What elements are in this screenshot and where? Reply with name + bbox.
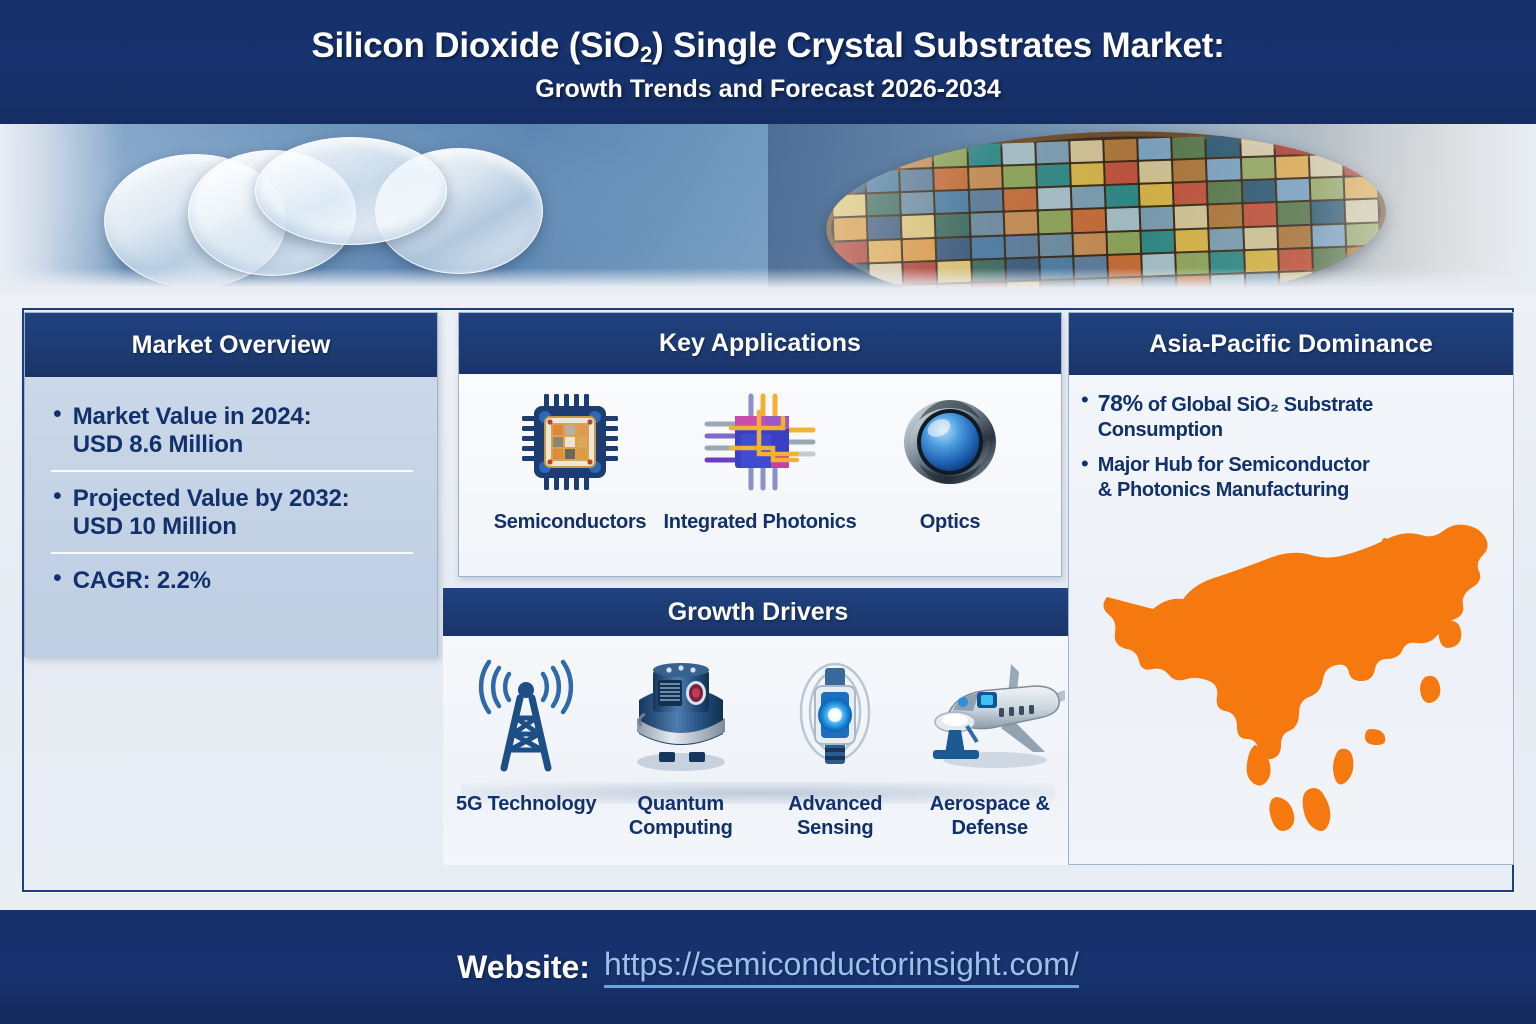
wafer-die	[1004, 212, 1037, 234]
wafer-die	[1109, 278, 1142, 294]
list-item: • Projected Value by 2032: USD 10 Millio…	[47, 481, 417, 550]
quartz-disc	[104, 154, 286, 288]
wafer-die	[1172, 137, 1205, 159]
wafer-die	[1142, 253, 1175, 275]
growth-driver-label: Quantum Computing	[629, 792, 733, 841]
major-hub-text: Major Hub for Semiconductor & Photonics …	[1098, 453, 1370, 503]
bullet-icon: •	[53, 567, 62, 595]
semiconductor-wafer-photo	[768, 124, 1536, 294]
wafer-die	[1105, 162, 1138, 184]
page-footer: Website: https://semiconductorinsight.co…	[0, 910, 1536, 1024]
wafer-die	[1310, 178, 1343, 200]
wafer-die	[1006, 258, 1039, 280]
wafer-die	[870, 286, 903, 294]
wafer-die	[969, 167, 1002, 189]
list-item: • 78% of Global SiO₂ Substrate Consumpti…	[1081, 389, 1503, 443]
wafer-die	[1173, 160, 1206, 182]
wafer-die	[938, 260, 971, 282]
wafer-die	[1241, 157, 1274, 179]
quartz-disc	[375, 148, 543, 274]
wafer-die	[903, 239, 936, 261]
wafer-die	[1280, 272, 1313, 294]
wafer-die	[1107, 208, 1140, 230]
quartz-disc	[255, 137, 447, 245]
wafer-die	[1243, 204, 1276, 226]
wafer-die	[1007, 281, 1040, 294]
wafer-die	[1176, 229, 1209, 251]
wafer-die	[1139, 161, 1172, 183]
growth-driver-label-line1: 5G Technology	[456, 793, 596, 815]
major-hub-line1: Major Hub for Semiconductor	[1098, 454, 1370, 476]
market-overview-body: • Market Value in 2024: USD 8.6 Million …	[25, 377, 437, 658]
wafer-die	[1207, 158, 1240, 180]
asia-pacific-heading: Asia-Pacific Dominance	[1069, 313, 1513, 375]
wafer-die	[1075, 279, 1108, 294]
wafer-die	[1038, 188, 1071, 210]
key-applications-heading: Key Applications	[459, 313, 1061, 374]
divider	[51, 470, 413, 472]
wafer-die	[1346, 223, 1379, 245]
wafer-die	[1207, 135, 1240, 157]
quantum-computer-icon	[615, 650, 747, 778]
key-applications-panel: Key Applications	[458, 312, 1062, 577]
bullet-icon: •	[1081, 389, 1089, 411]
cell-tower-icon	[466, 650, 586, 778]
growth-driver-label: Aerospace & Defense	[930, 792, 1050, 841]
wafer-die	[1138, 138, 1171, 160]
wafer-die	[939, 284, 972, 294]
wafer-die-grid	[828, 127, 1383, 294]
wafer-die	[1276, 156, 1309, 178]
growth-driver-aerospace-defense: Aerospace & Defense	[915, 650, 1065, 865]
wafer-die	[1106, 185, 1139, 207]
website-label: Website:	[457, 949, 590, 986]
growth-driver-label-line2: Defense	[952, 817, 1028, 839]
wafer-die	[1244, 227, 1277, 249]
wafer-die	[1275, 133, 1308, 155]
wafer-die	[832, 172, 865, 194]
wafer-die	[1108, 255, 1141, 277]
key-application-integrated-photonics: Integrated Photonics	[668, 390, 853, 534]
wafer-die	[1037, 164, 1070, 186]
wafer-die	[1002, 142, 1035, 164]
wafer-die	[836, 287, 869, 294]
growth-drivers-panel: Growth Drivers	[443, 588, 1073, 865]
microchip-icon	[518, 390, 622, 499]
wafer-die	[1241, 134, 1274, 156]
wafer-die	[1074, 256, 1107, 278]
list-item: • CAGR: 2.2%	[47, 563, 417, 604]
wafer-icon	[823, 124, 1389, 294]
wafer-die	[1174, 183, 1207, 205]
growth-driver-quantum-computing: Quantum Computing	[606, 650, 756, 865]
wafer-die	[1040, 257, 1073, 279]
growth-driver-advanced-sensing: Advanced Sensing	[760, 650, 910, 865]
hero-image-band	[0, 124, 1536, 294]
wafer-die	[1211, 251, 1244, 273]
projected-value-2032: Projected Value by 2032: USD 10 Million	[73, 485, 350, 541]
wafer-die	[1072, 186, 1105, 208]
asia-pacific-panel: Asia-Pacific Dominance • 78% of Global S…	[1068, 312, 1514, 865]
wafer-die	[1309, 132, 1342, 154]
wafer-die	[1276, 179, 1309, 201]
wafer-gloss	[823, 124, 1389, 294]
growth-drivers-heading: Growth Drivers	[443, 588, 1073, 636]
quartz-discs-photo	[0, 124, 768, 294]
wafer-die	[1343, 131, 1376, 153]
wafer-die	[835, 241, 868, 263]
wafer-die	[1177, 275, 1210, 294]
wafer-die	[937, 237, 970, 259]
growth-driver-label: 5G Technology	[456, 792, 596, 816]
sensor-icon	[775, 650, 895, 778]
major-hub-line2: & Photonics Manufacturing	[1098, 479, 1349, 501]
key-application-label: Integrated Photonics	[664, 511, 857, 534]
growth-driver-label-line2: Computing	[629, 817, 733, 839]
consumption-stat-value: 78%	[1098, 390, 1143, 416]
market-value-2024: Market Value in 2024: USD 8.6 Million	[73, 403, 312, 459]
wafer-die	[865, 147, 898, 169]
divider	[51, 552, 413, 554]
aircraft-radar-icon	[915, 650, 1065, 778]
wafer-die	[1208, 182, 1241, 204]
wafer-die	[869, 240, 902, 262]
website-url[interactable]: https://semiconductorinsight.com/	[604, 946, 1079, 988]
wafer-die	[1140, 184, 1173, 206]
wafer-die	[1041, 280, 1074, 294]
wafer-die	[1004, 189, 1037, 211]
page-header: Silicon Dioxide (SiO2) Single Crystal Su…	[0, 0, 1536, 124]
bullet-icon: •	[1081, 453, 1089, 475]
wafer-die	[1312, 224, 1345, 246]
wafer-die	[1345, 200, 1378, 222]
wafer-die	[1070, 140, 1103, 162]
wafer-die	[1071, 163, 1104, 185]
wafer-die	[1311, 201, 1344, 223]
wafer-die	[968, 144, 1001, 166]
wafer-die	[1107, 231, 1140, 253]
wafer-die	[1211, 274, 1244, 294]
cagr-value: CAGR: 2.2%	[73, 567, 211, 595]
page-title-suffix: ) Single Crystal Substrates Market:	[652, 26, 1225, 65]
wafer-die	[1104, 139, 1137, 161]
wafer-die	[969, 190, 1002, 212]
wafer-die	[936, 214, 969, 236]
wafer-die	[1176, 252, 1209, 274]
wafer-die	[971, 236, 1004, 258]
wafer-die	[1314, 271, 1347, 293]
wafer-die	[1345, 177, 1378, 199]
wafer-die	[1242, 180, 1275, 202]
wafer-die	[1038, 211, 1071, 233]
wafer-die	[868, 217, 901, 239]
key-application-label: Optics	[920, 511, 980, 534]
bullet-icon: •	[53, 403, 62, 459]
list-item: • Market Value in 2024: USD 8.6 Million	[47, 399, 417, 468]
wafer-die	[1210, 228, 1243, 250]
wafer-die	[935, 191, 968, 213]
growth-driver-label-line2: Sensing	[797, 817, 873, 839]
growth-driver-label-line1: Aerospace &	[930, 793, 1050, 815]
wafer-die	[1003, 166, 1036, 188]
wafer-die	[1245, 273, 1278, 294]
wafer-die	[1073, 233, 1106, 255]
market-value-2024-value: USD 8.6 Million	[73, 431, 243, 458]
wafer-die	[1143, 276, 1176, 294]
wafer-die	[835, 264, 868, 286]
market-value-2024-label: Market Value in 2024:	[73, 403, 312, 430]
market-overview-panel: Market Overview • Market Value in 2024: …	[24, 312, 438, 657]
page-title: Silicon Dioxide (SiO2) Single Crystal Su…	[311, 26, 1224, 68]
photonic-circuit-icon	[701, 390, 819, 499]
wafer-die	[866, 170, 899, 192]
wafer-die	[1036, 141, 1069, 163]
wafer-die	[901, 192, 934, 214]
wafer-die	[904, 285, 937, 294]
wafer-die	[1313, 247, 1346, 269]
wafer-die	[1073, 209, 1106, 231]
growth-driver-label: Advanced Sensing	[788, 792, 882, 841]
page-title-prefix: Silicon Dioxide (SiO	[311, 26, 640, 65]
wafer-die	[1278, 225, 1311, 247]
wafer-die	[900, 146, 933, 168]
wafer-die	[834, 218, 867, 240]
consumption-stat: 78% of Global SiO₂ Substrate Consumption	[1098, 389, 1503, 443]
key-applications-body: Semiconductors	[459, 374, 1061, 576]
wafer-die	[934, 168, 967, 190]
list-item: • Major Hub for Semiconductor & Photonic…	[1081, 453, 1503, 503]
growth-driver-5g-technology: 5G Technology	[451, 650, 601, 865]
wafer-die	[833, 195, 866, 217]
lens-sphere-icon	[898, 390, 1002, 499]
growth-driver-label-line1: Quantum	[638, 793, 724, 815]
wafer-die	[1245, 250, 1278, 272]
asia-pacific-body: • 78% of Global SiO₂ Substrate Consumpti…	[1069, 375, 1513, 864]
asia-pacific-map	[1095, 513, 1507, 853]
wafer-die	[1348, 269, 1381, 291]
wafer-die	[867, 193, 900, 215]
wafer-die	[1141, 207, 1174, 229]
wafer-die	[1142, 230, 1175, 252]
quartz-disc	[188, 150, 356, 276]
wafer-die	[870, 263, 903, 285]
wafer-die	[1347, 246, 1380, 268]
wafer-die	[970, 213, 1003, 235]
projected-value-2032-label: Projected Value by 2032:	[73, 485, 350, 512]
wafer-die	[902, 215, 935, 237]
wafer-die	[973, 282, 1006, 294]
wafer-die	[1209, 205, 1242, 227]
wafer-die	[1344, 154, 1377, 176]
wafer-die	[972, 259, 1005, 281]
growth-driver-label-line1: Advanced	[788, 793, 882, 815]
wafer-die	[934, 145, 967, 167]
wafer-die	[831, 148, 864, 170]
wafer-die	[1310, 155, 1343, 177]
growth-drivers-body: 5G Technology	[443, 636, 1073, 865]
key-application-semiconductors: Semiconductors	[478, 390, 663, 534]
wafer-die	[1175, 206, 1208, 228]
wafer-die	[1039, 234, 1072, 256]
wafer-die	[1277, 202, 1310, 224]
key-application-label: Semiconductors	[494, 511, 647, 534]
projected-value-2032-value: USD 10 Million	[73, 513, 237, 540]
bullet-icon: •	[53, 485, 62, 541]
wafer-die	[900, 169, 933, 191]
wafer-die	[1005, 235, 1038, 257]
page-subtitle: Growth Trends and Forecast 2026-2034	[535, 75, 1000, 104]
wafer-die	[904, 262, 937, 284]
wafer-die	[1279, 249, 1312, 271]
key-application-optics: Optics	[858, 390, 1043, 534]
page-title-subscript: 2	[640, 42, 652, 67]
market-overview-heading: Market Overview	[25, 313, 437, 377]
